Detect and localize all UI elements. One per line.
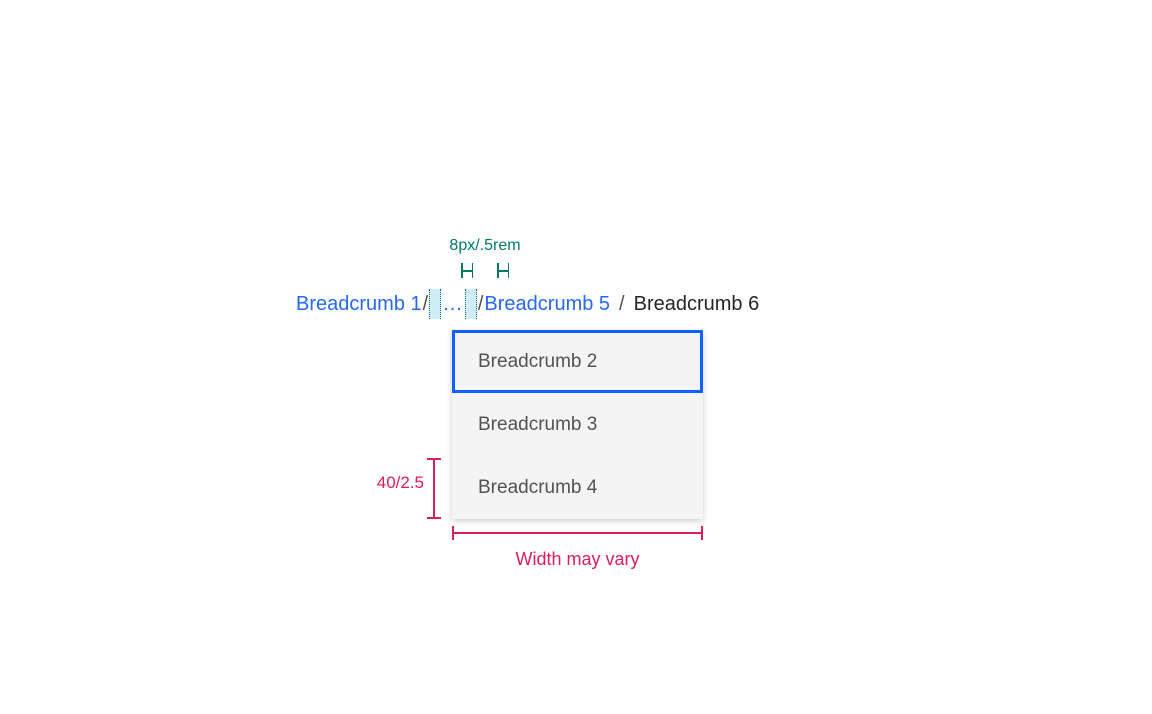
annotated-breadcrumb-spec: 8px/.5rem Breadcrumb 1 / ... / Breadcrum…	[0, 0, 1152, 714]
overflow-menu: Breadcrumb 2 Breadcrumb 3 Breadcrumb 4	[452, 330, 703, 519]
breadcrumb-item-current: Breadcrumb 6	[634, 289, 760, 319]
overflow-menu-item-breadcrumb-4[interactable]: Breadcrumb 4	[452, 456, 703, 519]
breadcrumb-separator-1: /	[422, 289, 430, 319]
breadcrumb: Breadcrumb 1 / ... / Breadcrumb 5 / Brea…	[296, 289, 759, 319]
breadcrumb-item-5[interactable]: Breadcrumb 5	[484, 289, 610, 319]
spacing-marker-right-icon	[497, 263, 509, 278]
overflow-menu-item-breadcrumb-2[interactable]: Breadcrumb 2	[452, 330, 703, 393]
breadcrumb-item-1[interactable]: Breadcrumb 1	[296, 289, 422, 319]
breadcrumb-separator-3: /	[610, 289, 634, 319]
overflow-menu-item-breadcrumb-3[interactable]: Breadcrumb 3	[452, 393, 703, 456]
spacing-band-right	[465, 289, 477, 319]
breadcrumb-separator-2: /	[477, 289, 485, 319]
spacing-annotation-label: 8px/.5rem	[435, 236, 535, 256]
height-measurement-bracket	[433, 458, 435, 519]
spacing-band-left	[429, 289, 441, 319]
width-measurement-label: Width may vary	[452, 547, 703, 571]
spacing-marker-left-icon	[461, 263, 473, 278]
breadcrumb-overflow-menu-button[interactable]: ...	[441, 289, 465, 319]
width-measurement-bracket	[452, 532, 703, 534]
height-measurement-label: 40/2.5	[338, 472, 424, 494]
